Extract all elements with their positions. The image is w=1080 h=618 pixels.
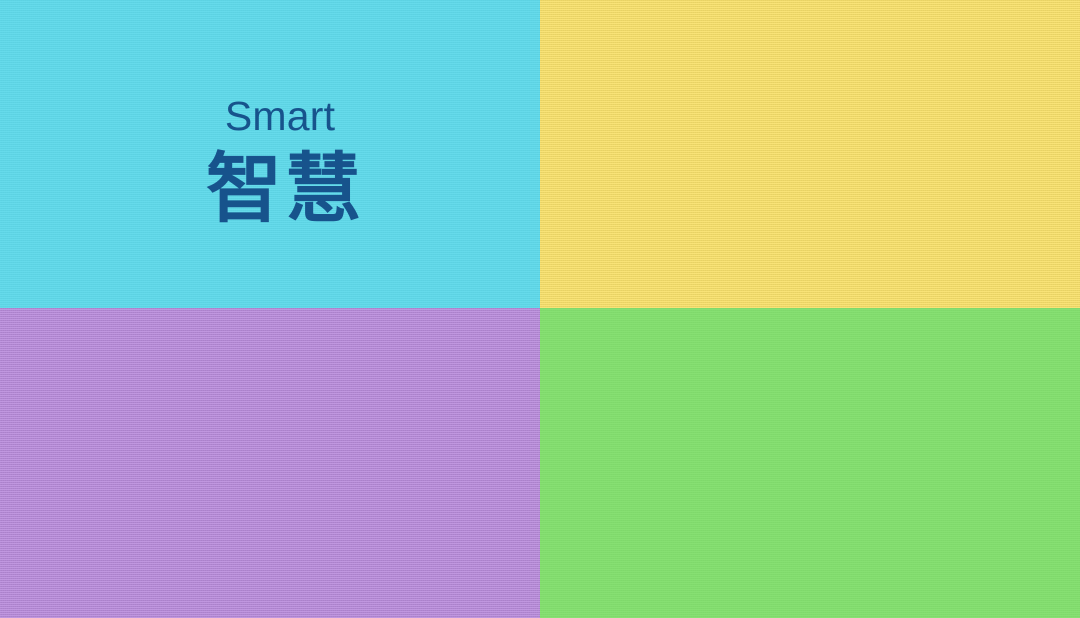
chinese-label-smart: 智慧	[152, 151, 408, 227]
quadrant-sustainable[interactable]: Sustainable 永續	[540, 308, 1080, 618]
quadrant-grid: Smart 智慧 Energetic 活力 Innovative 創新 Sust…	[0, 0, 1080, 618]
brand-values-canvas: Smart 智慧 Energetic 活力 Innovative 創新 Sust…	[0, 0, 1080, 618]
quadrant-smart[interactable]: Smart 智慧	[0, 0, 540, 308]
label-stack-smart: Smart 智慧	[152, 96, 408, 227]
texture-overlay-innovative	[0, 308, 540, 618]
quadrant-energetic[interactable]: Energetic 活力	[540, 0, 1080, 308]
english-label-smart: Smart	[152, 96, 408, 137]
quadrant-innovative[interactable]: Innovative 創新	[0, 308, 540, 618]
texture-overlay-energetic	[540, 0, 1080, 308]
texture-overlay-sustainable	[540, 308, 1080, 618]
